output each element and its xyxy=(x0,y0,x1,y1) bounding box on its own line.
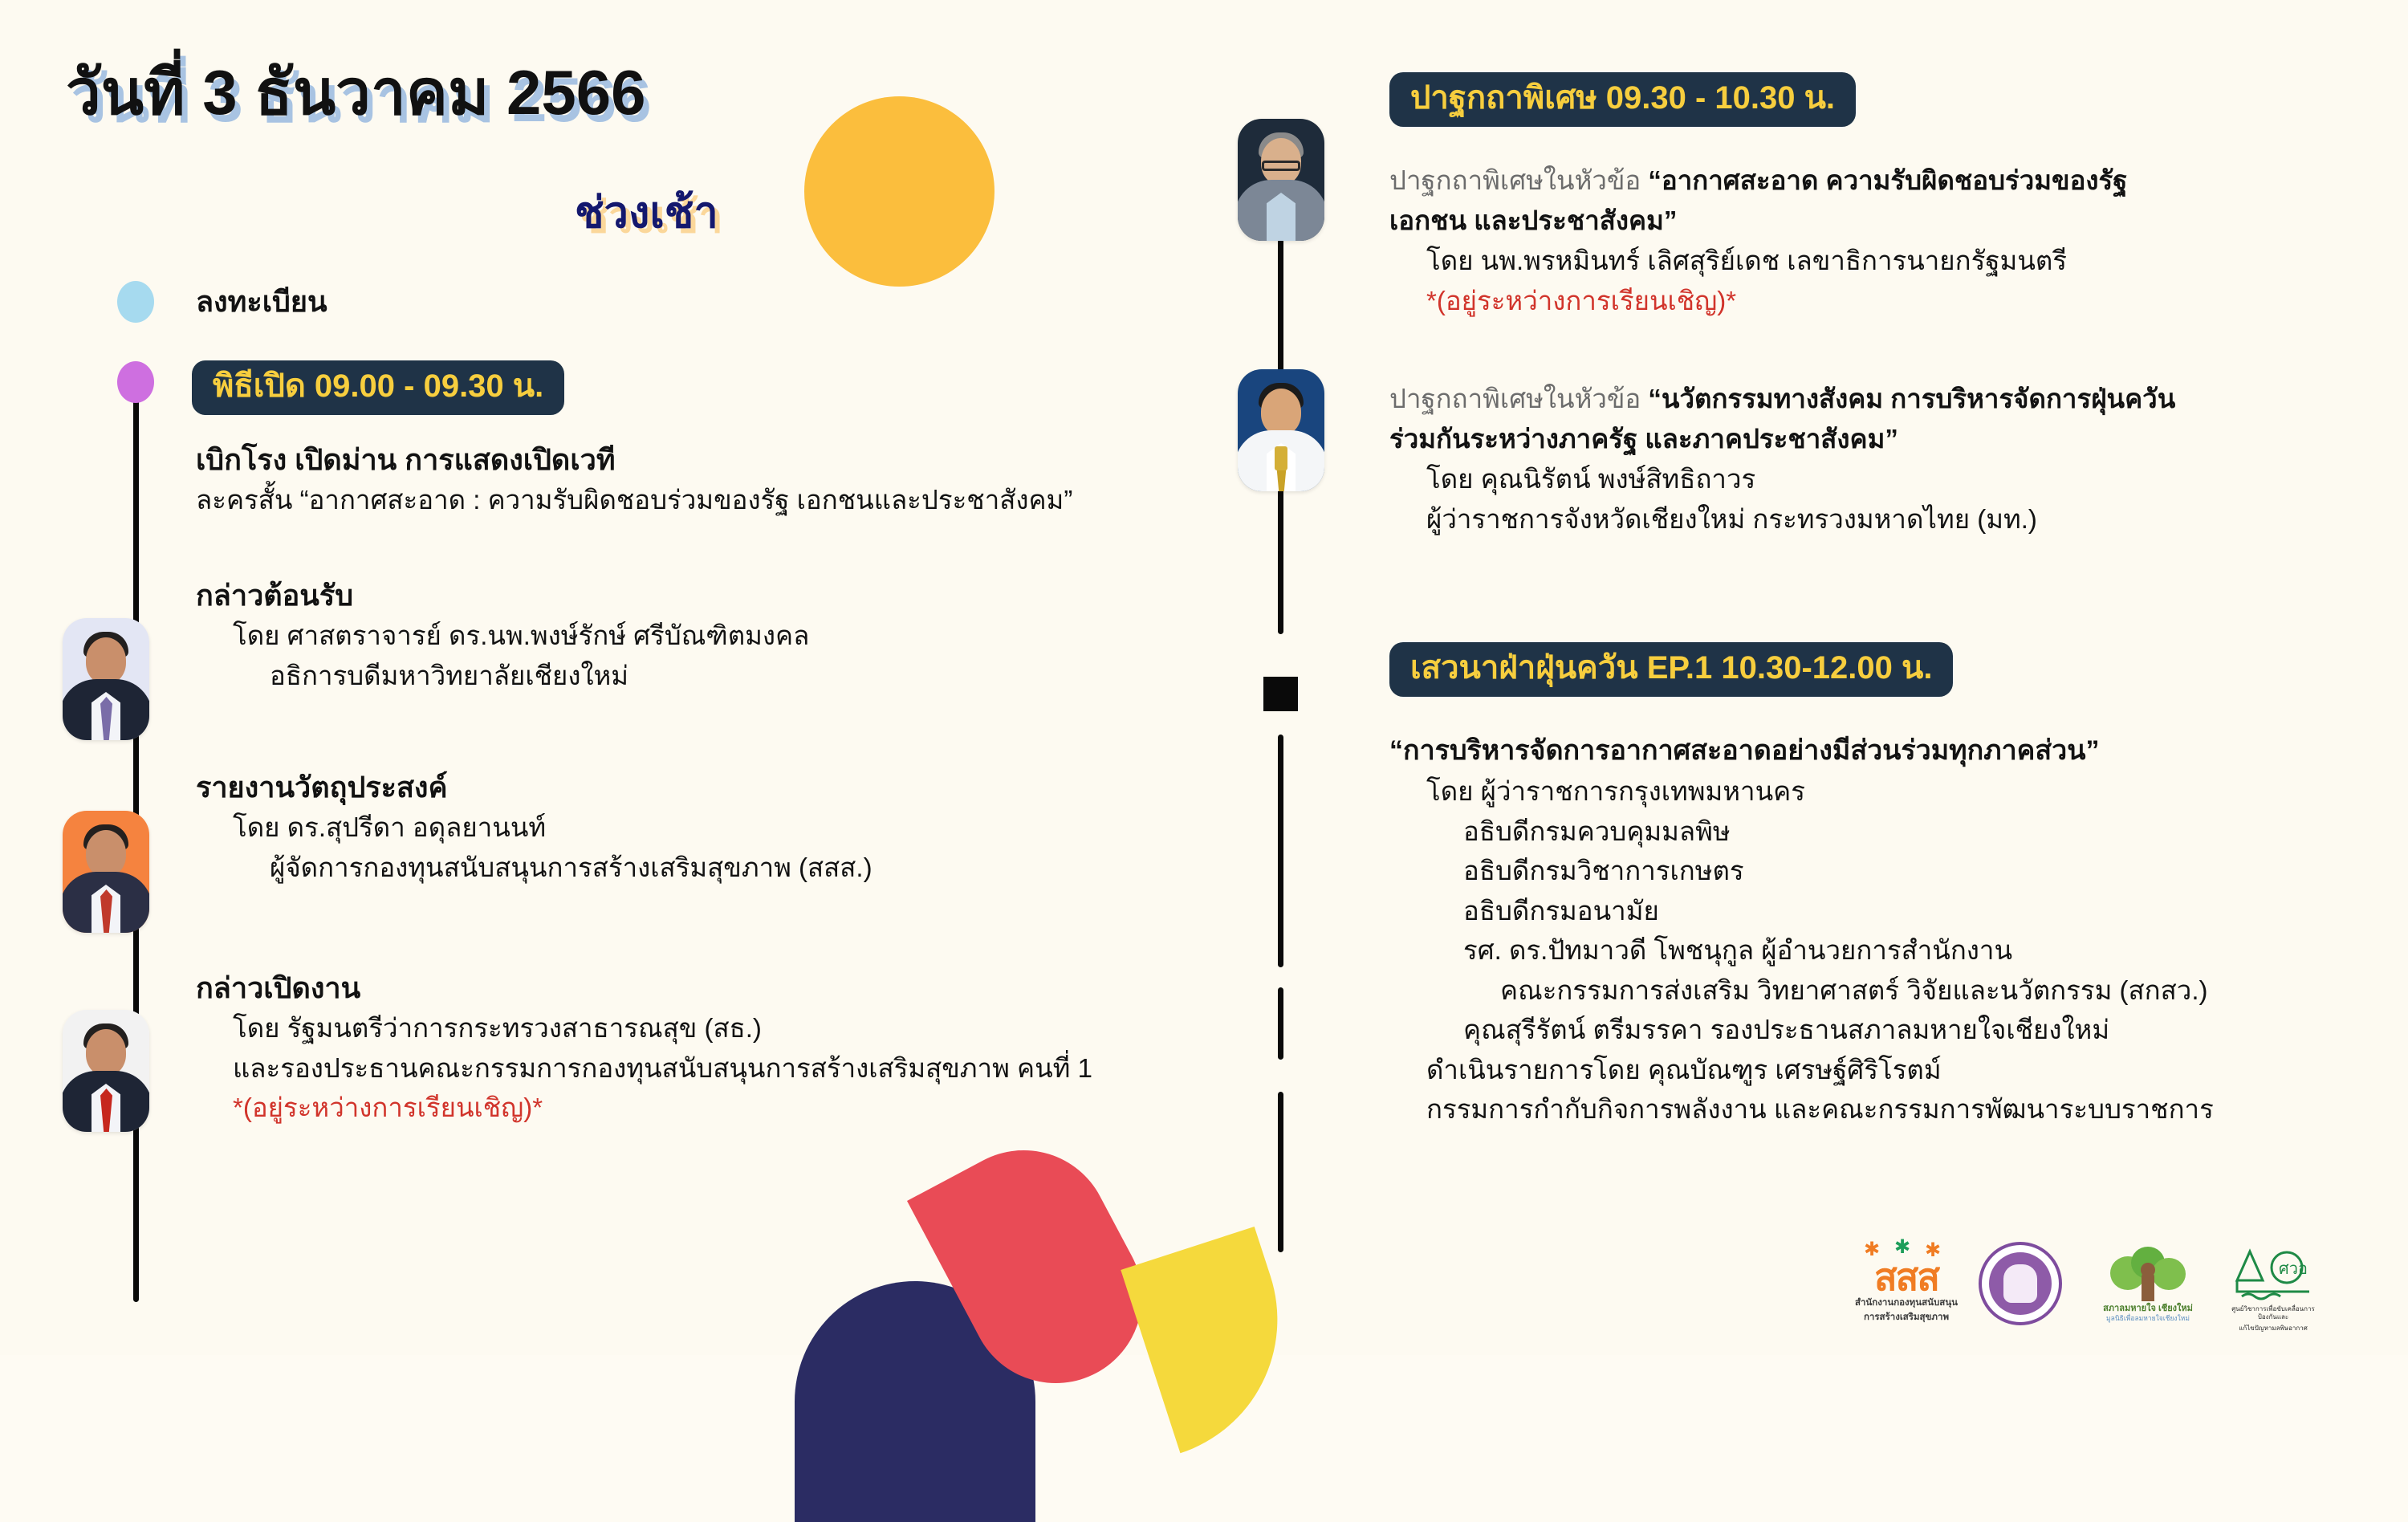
open-remark-speaker: โดย รัฐมนตรีว่าการกระทรวงสาธารณสุข (สธ.) xyxy=(196,1008,1092,1048)
panel-topic: “การบริหารจัดการอากาศสะอาดอย่างมีส่วนร่ว… xyxy=(1389,730,2214,771)
agenda-item-objective: รายงานวัตถุประสงค์ โดย ดร.สุปรีดา อดุลยา… xyxy=(196,767,872,887)
avatar-thaihealth-manager xyxy=(63,811,149,933)
keynote2-speaker: โดย คุณนิรัตน์ พงษ์สิทธิถาวร xyxy=(1389,459,2175,499)
cea-caption-1: ศูนย์วิชาการเพื่อขับเคลื่อนการป้องกันและ xyxy=(2225,1305,2321,1322)
open-remark-heading: กล่าวเปิดงาน xyxy=(196,967,1092,1008)
thaihealth-caption-2: การสร้างเสริมสุขภาพ xyxy=(1854,1312,1959,1325)
decorative-yellow-wedge xyxy=(1121,1227,1314,1453)
avatar-minister xyxy=(63,1010,149,1132)
keynote1-speaker: โดย นพ.พรหมินทร์ เลิศสุริย์เดช เลขาธิการ… xyxy=(1389,241,2127,281)
agenda-item-keynote-1: ปาฐกถาพิเศษในหัวข้อ “อากาศสะอาด ความรับผ… xyxy=(1389,161,2127,320)
panel-speaker: รศ. ดร.ปัทมาวดี โพชนุกูล ผู้อำนวยการสำนั… xyxy=(1389,930,2214,971)
page-subtitle: ช่วงเช้า xyxy=(575,191,718,234)
cea-caption-2: แก้ไขปัญหามลพิษอากาศ xyxy=(2225,1325,2321,1333)
open-remark-position: และรองประธานคณะกรรมการกองทุนสนับสนุนการส… xyxy=(196,1048,1092,1089)
keynote2-topic-line1: “นวัตกรรมทางสังคม การบริหารจัดการฝุ่นควั… xyxy=(1648,384,2175,413)
opening-performance-heading: เบิกโรง เปิดม่าน การแสดงเปิดเวที xyxy=(196,439,1072,480)
timeline-right-segment-4 xyxy=(1278,987,1283,1060)
badge-panel-ep1: เสวนาฝ่าฝุ่นควัน EP.1 10.30-12.00 น. xyxy=(1389,642,1953,697)
logo-chiangmai-university xyxy=(1976,1242,2064,1325)
agenda-item-welcome: กล่าวต้อนรับ โดย ศาสตราจารย์ ดร.นพ.พงษ์ร… xyxy=(196,575,809,695)
timeline-dot-register xyxy=(117,281,154,323)
agenda-item-register: ลงทะเบียน xyxy=(196,281,327,322)
cmu-seal-icon xyxy=(1979,1242,2062,1325)
keynote2-prefix: ปาฐกถาพิเศษในหัวข้อ xyxy=(1389,384,1648,413)
svg-text:ศวอ: ศวอ xyxy=(2279,1260,2308,1278)
keynote2-line1: ปาฐกถาพิเศษในหัวข้อ “นวัตกรรมทางสังคม กา… xyxy=(1389,379,2175,419)
avatar-cmu-president xyxy=(63,618,149,740)
cea-svg: ศวอ xyxy=(2229,1247,2317,1303)
welcome-speaker: โดย ศาสตราจารย์ ดร.นพ.พงษ์รักษ์ ศรีบัณฑิ… xyxy=(196,616,809,656)
welcome-position: อธิการบดีมหาวิทยาลัยเชียงใหม่ xyxy=(196,656,809,696)
keynote1-line1: ปาฐกถาพิเศษในหัวข้อ “อากาศสะอาด ความรับผ… xyxy=(1389,161,2127,201)
thaihealth-stars-icon: ✱ ✱ ✱ xyxy=(1854,1240,1959,1258)
panel-speaker: คณะกรรมการส่งเสริม วิทยาศาสตร์ วิจัยและน… xyxy=(1389,971,2214,1011)
timeline-dot-opening xyxy=(117,361,154,403)
logo-thaihealth: ✱ ✱ ✱ สสส สำนักงานกองทุนสนับสนุน การสร้า… xyxy=(1854,1240,1959,1324)
panel-speaker: อธิบดีกรมวิชาการเกษตร xyxy=(1389,851,2214,891)
objective-speaker: โดย ดร.สุปรีดา อดุลยานนท์ xyxy=(196,808,872,848)
thaihealth-mark: สสส xyxy=(1854,1258,1959,1296)
welcome-heading: กล่าวต้อนรับ xyxy=(196,575,809,616)
agenda-item-keynote-2: ปาฐกถาพิเศษในหัวข้อ “นวัตกรรมทางสังคม กา… xyxy=(1389,379,2175,539)
timeline-right-marker-square xyxy=(1263,677,1298,711)
keynote1-topic-line1: “อากาศสะอาด ความรับผิดชอบร่วมของรัฐ xyxy=(1648,165,2127,195)
panel-speaker: อธิบดีกรมอนามัย xyxy=(1389,891,2214,931)
panel-moderator-position: กรรมการกำกับกิจการพลังงาน และคณะกรรมการพ… xyxy=(1389,1089,2214,1129)
partner-logos: ✱ ✱ ✱ สสส สำนักงานกองทุนสนับสนุน การสร้า… xyxy=(1854,1240,2304,1345)
timeline-right-segment-5 xyxy=(1278,1092,1283,1252)
agenda-item-opening-performance: เบิกโรง เปิดม่าน การแสดงเปิดเวที ละครสั้… xyxy=(196,439,1072,520)
logo-air-pollution-center: ศวอ ศูนย์วิชาการเพื่อขับเคลื่อนการป้องกั… xyxy=(2225,1247,2321,1333)
agenda-item-panel: “การบริหารจัดการอากาศสะอาดอย่างมีส่วนร่ว… xyxy=(1389,730,2214,1129)
objective-heading: รายงานวัตถุประสงค์ xyxy=(196,767,872,808)
panel-speaker: คุณสุรีรัตน์ ตรีมรรคา รองประธานสภาลมหายใ… xyxy=(1389,1010,2214,1050)
logo-breath-council: สภาลมหายใจ เชียงใหม่ มูลนิธิเพื่อลมหายใจ… xyxy=(2092,1245,2204,1323)
badge-keynote: ปาฐกถาพิเศษ 09.30 - 10.30 น. xyxy=(1389,72,1856,127)
avatar-chiangmai-governor xyxy=(1238,369,1324,491)
breath-caption-1: สภาลมหายใจ เชียงใหม่ xyxy=(2092,1303,2204,1314)
tree-icon xyxy=(2104,1245,2192,1301)
keynote2-position: ผู้ว่าราชการจังหวัดเชียงใหม่ กระทรวงมหาด… xyxy=(1389,499,2175,539)
page-title: วันที่ 3 ธันวาคม 2566 xyxy=(66,61,646,124)
avatar-pm-secretary xyxy=(1238,119,1324,241)
thaihealth-caption-1: สำนักงานกองทุนสนับสนุน xyxy=(1854,1297,1959,1310)
panel-speaker: โดย ผู้ว่าราชการกรุงเทพมหานคร xyxy=(1389,771,2214,812)
timeline-right-segment-3 xyxy=(1278,891,1283,963)
keynote1-prefix: ปาฐกถาพิเศษในหัวข้อ xyxy=(1389,165,1648,195)
keynote2-topic-line2: ร่วมกันระหว่างภาครัฐ และภาคประชาสังคม” xyxy=(1389,419,2175,459)
pine-water-icon: ศวอ xyxy=(2229,1247,2317,1303)
open-remark-note: *(อยู่ระหว่างการเรียนเชิญ)* xyxy=(196,1088,1092,1128)
panel-speaker: อธิบดีกรมควบคุมมลพิษ xyxy=(1389,812,2214,852)
opening-performance-line1: ละครสั้น “อากาศสะอาด : ความรับผิดชอบร่วม… xyxy=(196,480,1072,520)
objective-position: ผู้จัดการกองทุนสนับสนุนการสร้างเสริมสุขภ… xyxy=(196,848,872,888)
keynote1-topic-line2: เอกชน และประชาสังคม” xyxy=(1389,201,2127,241)
decorative-yellow-circle xyxy=(804,96,995,287)
keynote1-note: *(อยู่ระหว่างการเรียนเชิญ)* xyxy=(1389,281,2127,321)
panel-moderator: ดำเนินรายการโดย คุณบัณฑูร เศรษฐ์ศิริโรตม… xyxy=(1389,1050,2214,1090)
register-label: ลงทะเบียน xyxy=(196,281,327,322)
badge-opening-ceremony: พิธีเปิด 09.00 - 09.30 น. xyxy=(192,360,564,415)
agenda-item-opening-remark: กล่าวเปิดงาน โดย รัฐมนตรีว่าการกระทรวงสา… xyxy=(196,967,1092,1128)
breath-caption-2: มูลนิธิเพื่อลมหายใจเชียงใหม่ xyxy=(2092,1314,2204,1323)
